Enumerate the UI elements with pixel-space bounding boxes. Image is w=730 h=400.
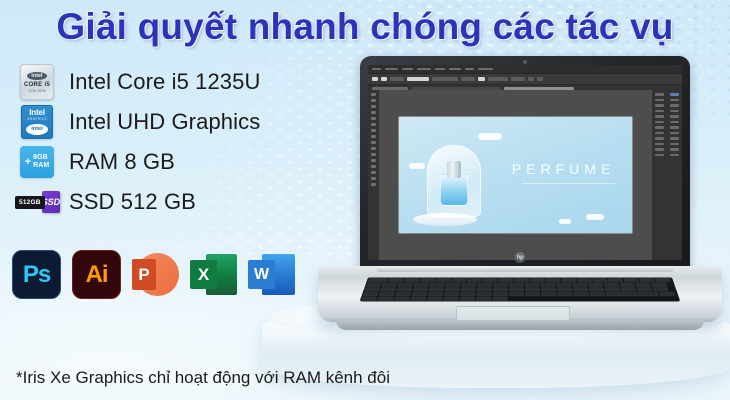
keyboard-key (379, 292, 395, 296)
ssd-badge-icon: 512GB SSD (16, 183, 58, 221)
keyboard-key (605, 287, 621, 291)
keyboard-key (443, 297, 459, 301)
keyboard-key (509, 292, 524, 296)
illustrator-icon-label: Ai (86, 261, 108, 289)
keyboard-key (493, 292, 508, 296)
perfume-poster-artwork: PERFUME (399, 117, 631, 233)
keyboard-key (388, 278, 404, 282)
webcam-icon (523, 60, 527, 64)
keyboard-key (435, 278, 450, 282)
ram-badge-line2: RAM (33, 162, 49, 170)
keyboard-key (427, 297, 443, 301)
keyboard-key (623, 278, 639, 282)
keyboard-key (621, 287, 637, 291)
word-icon: W (248, 251, 295, 298)
keyboard-key (461, 287, 476, 291)
photoshop-icon: Ps (12, 250, 61, 299)
laptop-lid: PERFUME (360, 56, 690, 272)
glass-dome-shape (427, 145, 481, 217)
ram-badge-icon: + 8GB RAM (16, 143, 58, 181)
ssd-badge-capacity: 512GB (15, 196, 45, 209)
keyboard-key (572, 283, 587, 287)
intel-wordmark: intel (27, 72, 47, 80)
photoshop-panel-column-left (652, 90, 667, 260)
keyboard-key (398, 283, 414, 287)
perfume-bottle-shape (440, 174, 468, 206)
excel-icon: X (190, 251, 237, 298)
promo-banner: PERFUME hp (0, 0, 730, 400)
keyboard-key (530, 278, 545, 282)
keyboard-key (411, 292, 427, 296)
ram-badge-plus: + (25, 157, 31, 167)
keyboard-key (545, 278, 560, 282)
keyboard-key (541, 287, 556, 291)
laptop-screen: PERFUME (368, 65, 682, 260)
keyboard-key (477, 287, 492, 291)
keyboard-key (428, 292, 444, 296)
keyboard-key (514, 278, 529, 282)
keyboard-key (363, 292, 379, 296)
powerpoint-icon: P (132, 251, 179, 298)
laptop-front-edge (336, 320, 704, 330)
spec-row-storage: 512GB SSD SSD 512 GB (16, 182, 260, 222)
illustrator-icon: Ai (72, 250, 121, 299)
keyboard-key (395, 292, 411, 296)
keyboard-key (467, 278, 482, 282)
cloud-shape (478, 133, 502, 140)
keyboard-key (476, 292, 491, 296)
keyboard-key (445, 283, 460, 287)
keyboard-key (592, 278, 607, 282)
keyboard-key (577, 278, 592, 282)
laptop-keyboard (360, 277, 681, 301)
keyboard-key (366, 283, 382, 287)
keyboard-key (525, 287, 540, 291)
keyboard-key (573, 292, 589, 296)
keyboard-key (556, 283, 571, 287)
keyboard-key (368, 278, 389, 282)
keyboard-key (461, 283, 476, 287)
keyboard-key (604, 283, 620, 287)
gfx-badge-mark: intel (26, 124, 48, 135)
keyboard-key (477, 283, 492, 287)
gfx-badge-brand: Intel (29, 108, 44, 117)
keyboard-key (444, 292, 460, 296)
keyboard-key (396, 287, 412, 291)
keyboard-key (651, 283, 667, 287)
keyboard-key (420, 278, 435, 282)
keyboard-key (637, 287, 653, 291)
cloud-shape (409, 163, 425, 169)
keyboard-key (589, 287, 605, 291)
spec-label-storage: SSD 512 GB (69, 189, 196, 215)
keyboard-key (483, 278, 498, 282)
keyboard-key (652, 287, 668, 291)
intel-core-i5-badge-icon: intel CORE i5 12th GEN (16, 63, 58, 101)
keyboard-key (492, 297, 507, 301)
hp-laptop-image: PERFUME hp (318, 56, 722, 338)
keyboard-key (509, 283, 524, 287)
keyboard-key (635, 283, 651, 287)
poster-headline: PERFUME (512, 161, 615, 177)
keyboard-key (445, 287, 461, 291)
keyboard-key (509, 287, 524, 291)
keyboard-key (380, 287, 396, 291)
gfx-badge-sub: GRAPHICS (27, 117, 47, 122)
cloud-shape (559, 219, 571, 224)
hp-brand-logo: hp (515, 252, 526, 263)
intel-uhd-graphics-badge-icon: Intel GRAPHICS intel (16, 103, 58, 141)
keyboard-key (377, 297, 393, 301)
keyboard-key (460, 292, 476, 296)
spec-label-ram: RAM 8 GB (69, 149, 175, 175)
perfume-bottle-cap-shape (447, 161, 461, 178)
keyboard-key (451, 278, 466, 282)
keyboard-key (659, 292, 675, 296)
keyboard-key (573, 287, 589, 291)
cloud-shape (586, 214, 604, 220)
keyboard-key (606, 292, 659, 296)
keyboard-key (525, 283, 540, 287)
keyboard-key (476, 297, 492, 301)
keyboard-key (430, 283, 446, 287)
photoshop-tools-panel (368, 90, 379, 260)
keyboard-key (493, 283, 508, 287)
photoshop-canvas: PERFUME (379, 90, 652, 260)
keyboard-key (541, 283, 556, 287)
keyboard-key (498, 278, 513, 282)
keyboard-key (361, 297, 378, 301)
poster-divider-line (522, 183, 615, 184)
photoshop-options-bar (368, 74, 682, 85)
page-title: Giải quyết nhanh chóng các tác vụ (0, 6, 730, 48)
keyboard-key (382, 283, 398, 287)
app-icon-row: Ps Ai P X W (12, 250, 295, 299)
keyboard-key (588, 283, 603, 287)
keyboard-key (414, 283, 430, 287)
cpu-badge-line1: CORE i5 (24, 82, 50, 88)
spec-row-cpu: intel CORE i5 12th GEN Intel Core i5 123… (16, 62, 260, 102)
photoshop-layers-panel (667, 90, 682, 260)
photoshop-panels (652, 90, 682, 260)
keyboard-key (608, 278, 623, 282)
photoshop-icon-label: Ps (23, 261, 50, 289)
keyboard-key (525, 292, 540, 296)
photoshop-workspace: PERFUME (368, 90, 682, 260)
keyboard-key (364, 287, 380, 291)
spec-label-cpu: Intel Core i5 1235U (69, 69, 260, 95)
ram-badge-line1: 8GB (33, 154, 48, 162)
keyboard-key (561, 278, 576, 282)
keyboard-key (404, 278, 420, 282)
spec-row-ram: + 8GB RAM RAM 8 GB (16, 142, 260, 182)
spec-label-gpu: Intel UHD Graphics (69, 109, 260, 135)
keyboard-key (557, 292, 573, 296)
keyboard-key (541, 292, 556, 296)
spec-row-gpu: Intel GRAPHICS intel Intel UHD Graphics (16, 102, 260, 142)
excel-icon-label: X (190, 260, 217, 289)
keyboard-key (394, 297, 410, 301)
spec-list: intel CORE i5 12th GEN Intel Core i5 123… (16, 62, 260, 222)
keyboard-key (429, 287, 445, 291)
keyboard-key (493, 287, 508, 291)
cpu-badge-line2: 12th GEN (28, 89, 45, 93)
keyboard-key (557, 287, 572, 291)
laptop-hinge (376, 266, 674, 272)
keyboard-key (655, 278, 671, 282)
keyboard-key (589, 292, 605, 296)
powerpoint-icon-label: P (132, 259, 156, 290)
keyboard-key (620, 283, 636, 287)
keyboard-key (413, 287, 429, 291)
keyboard-key (639, 278, 655, 282)
keyboard-key (459, 297, 475, 301)
word-icon-label: W (248, 260, 275, 289)
keyboard-key (410, 297, 426, 301)
footnote-text: *Iris Xe Graphics chỉ hoạt động với RAM … (16, 368, 390, 388)
photoshop-menu-bar (368, 65, 682, 74)
